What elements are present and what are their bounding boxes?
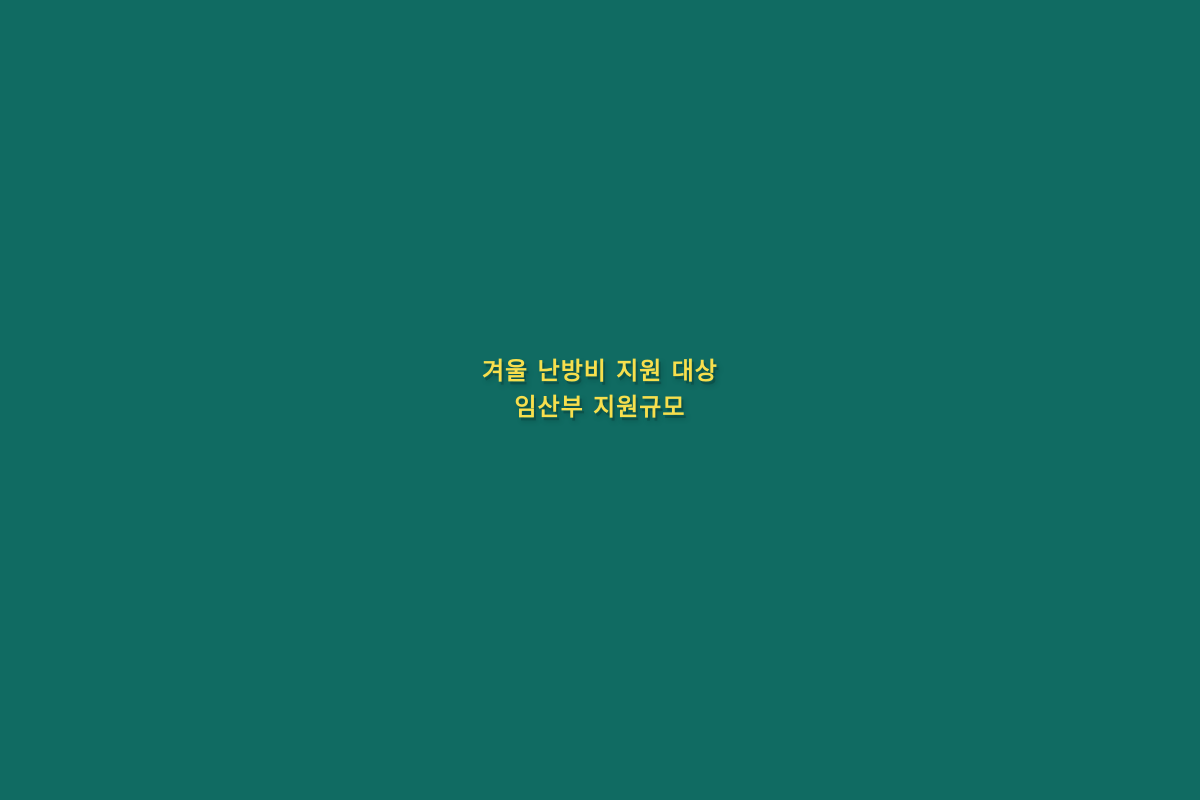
thumbnail-banner: 겨울 난방비 지원 대상 임산부 지원규모	[0, 0, 1200, 800]
headline-line-2: 임산부 지원규모	[0, 392, 1200, 424]
headline-line-1: 겨울 난방비 지원 대상	[0, 356, 1200, 388]
headline-text-block: 겨울 난방비 지원 대상 임산부 지원규모	[0, 356, 1200, 423]
